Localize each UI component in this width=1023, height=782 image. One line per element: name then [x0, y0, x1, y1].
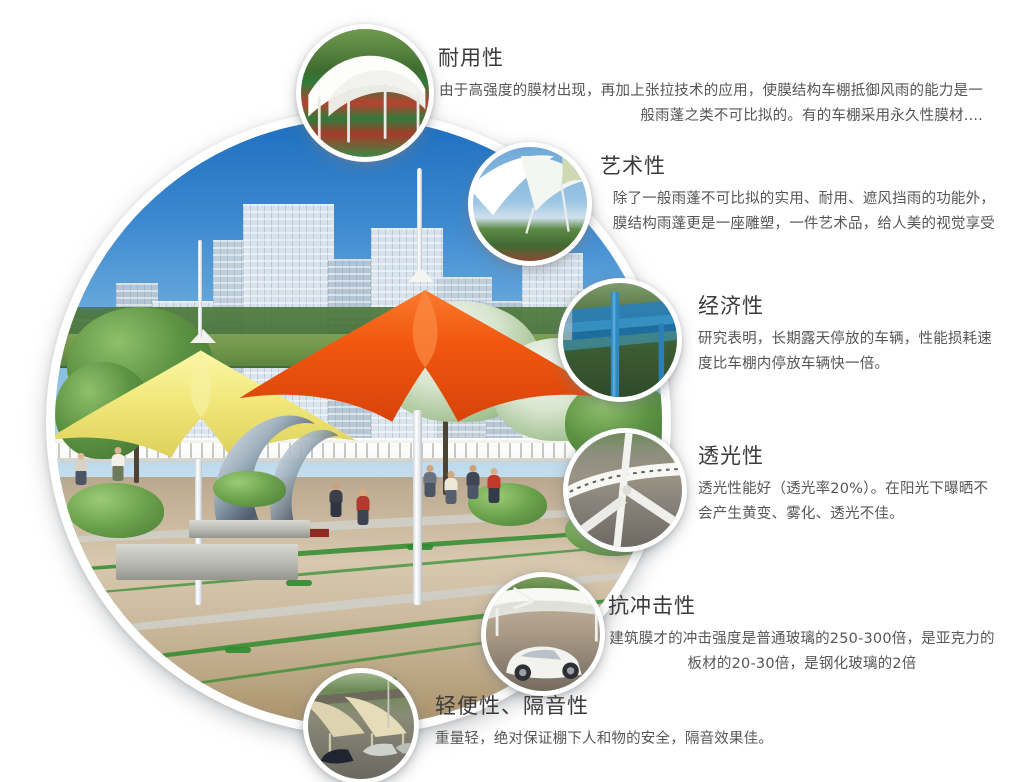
plaza-step: [189, 520, 310, 538]
photo-white-steel-frame-detail: [568, 433, 682, 547]
photo-white-car-under-carport: [486, 577, 600, 691]
photo-white-canopy-sports-court: [301, 29, 429, 157]
pedestrian: [486, 468, 502, 503]
yellow-canopy-mast: [198, 240, 202, 337]
thumb-white-canopy-sports-court[interactable]: [296, 24, 434, 162]
feature-title-artistry: 艺术性: [600, 150, 995, 180]
poster-canvas: 耐用性 由于高强度的膜材出现，再加上张拉技术的应用，使膜结构车棚抵御风雨的能力是…: [0, 0, 1023, 782]
paving-dash: [286, 580, 312, 586]
thumb-white-steel-frame-detail[interactable]: [563, 428, 687, 552]
paving-dash: [225, 647, 251, 653]
thumb-blue-steel-carport[interactable]: [558, 278, 682, 402]
feature-title-economy: 经济性: [698, 290, 998, 320]
pedestrian: [73, 453, 89, 485]
pedestrian: [465, 465, 481, 499]
feature-body-impact-resistance: 建筑膜才的冲击强度是普通玻璃的250-300倍，是亚克力的板材的20-30倍，是…: [608, 627, 996, 677]
shrub: [67, 483, 164, 538]
pedestrian: [443, 471, 459, 504]
yellow-canopy-cone-cap: [190, 329, 216, 343]
feature-translucency: 透光性 透光性能好（透光率20%）。在阳光下曝晒不会产生黄变、雾化、透光不佳。: [698, 440, 998, 527]
photo-blue-steel-carport: [563, 283, 677, 397]
orange-canopy-mast: [417, 168, 422, 271]
feature-lightweight-soundproof: 轻便性、隔音性 重量轻，绝对保证棚下人和物的安全，隔音效果佳。: [435, 690, 855, 752]
feature-body-economy: 研究表明，长期露天停放的车辆，性能损耗速度比车棚内停放车辆快一倍。: [698, 327, 998, 377]
feature-body-lightweight-soundproof: 重量轻，绝对保证棚下人和物的安全，隔音效果佳。: [435, 727, 855, 752]
pedestrian: [422, 465, 438, 497]
photo-beige-carport-row: [308, 673, 414, 779]
feature-body-translucency: 透光性能好（透光率20%）。在阳光下曝晒不会产生黄变、雾化、透光不佳。: [698, 477, 998, 527]
pedestrian: [110, 447, 126, 481]
feature-title-translucency: 透光性: [698, 440, 998, 470]
feature-title-durability: 耐用性: [438, 42, 983, 72]
feature-title-lightweight-soundproof: 轻便性、隔音性: [435, 690, 855, 720]
feature-title-impact-resistance: 抗冲击性: [608, 590, 996, 620]
thumb-white-car-under-carport[interactable]: [481, 572, 605, 696]
feature-economy: 经济性 研究表明，长期露天停放的车辆，性能损耗速度比车棚内停放车辆快一倍。: [698, 290, 998, 377]
photo-white-sail-membrane: [473, 147, 587, 261]
feature-impact-resistance: 抗冲击性 建筑膜才的冲击强度是普通玻璃的250-300倍，是亚克力的板材的20-…: [608, 590, 996, 677]
pedestrian: [355, 489, 371, 525]
thumb-white-sail-membrane[interactable]: [468, 142, 592, 266]
feature-durability: 耐用性 由于高强度的膜材出现，再加上张拉技术的应用，使膜结构车棚抵御风雨的能力是…: [438, 42, 983, 129]
orange-canopy-column: [413, 410, 422, 604]
thumb-beige-carport-row[interactable]: [303, 668, 419, 782]
plaza-step: [116, 544, 298, 580]
feature-body-durability: 由于高强度的膜材出现，再加上张拉技术的应用，使膜结构车棚抵御风雨的能力是一般雨蓬…: [438, 79, 983, 129]
pedestrian: [328, 483, 344, 517]
feature-artistry: 艺术性 除了一般雨蓬不可比拟的实用、耐用、遮风挡雨的功能外，膜结构雨蓬更是一座雕…: [600, 150, 995, 237]
feature-body-artistry: 除了一般雨蓬不可比拟的实用、耐用、遮风挡雨的功能外，膜结构雨蓬更是一座雕塑，一件…: [600, 187, 995, 237]
